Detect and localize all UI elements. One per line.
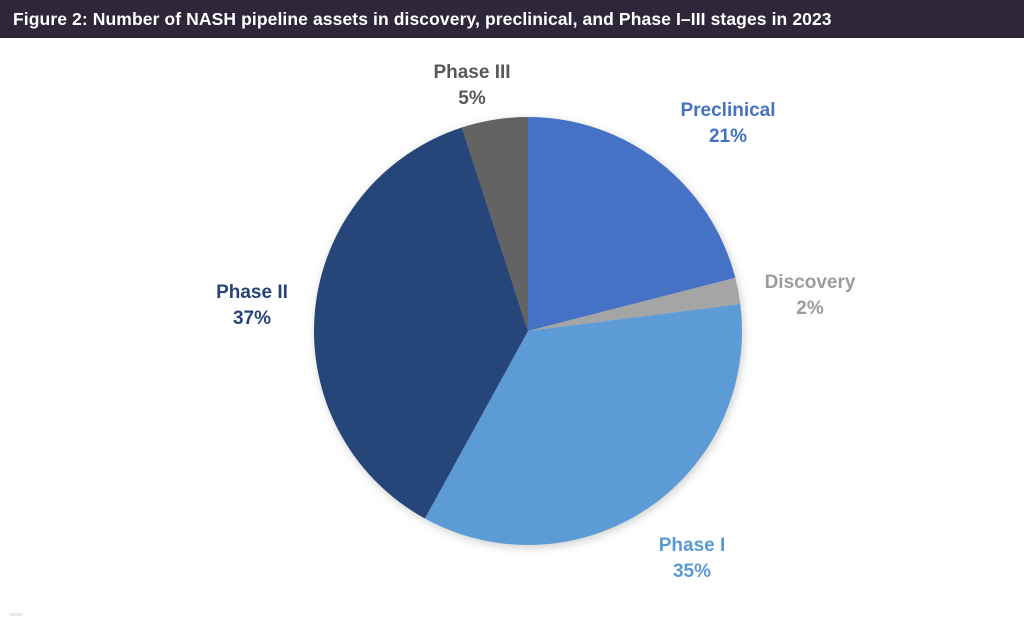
figure-title-bar: Figure 2: Number of NASH pipeline assets… bbox=[0, 0, 1024, 38]
figure-title: Figure 2: Number of NASH pipeline assets… bbox=[13, 0, 832, 38]
pie-label-phase-ii-value: 37% bbox=[162, 306, 342, 332]
pie-label-discovery-value: 2% bbox=[720, 296, 900, 322]
pie-label-phase-iii: Phase III 5% bbox=[382, 60, 562, 111]
pie-label-discovery: Discovery 2% bbox=[720, 270, 900, 321]
pie-slice-group bbox=[314, 117, 742, 545]
pie-label-phase-i-name: Phase I bbox=[602, 533, 782, 559]
pie-label-phase-iii-name: Phase III bbox=[382, 60, 562, 86]
pie-label-discovery-name: Discovery bbox=[720, 270, 900, 296]
pie-label-preclinical-value: 21% bbox=[638, 124, 818, 150]
footer-artifact-mark bbox=[9, 613, 23, 616]
pie-chart-svg bbox=[314, 117, 742, 545]
pie-label-preclinical-name: Preclinical bbox=[638, 98, 818, 124]
pie-label-phase-ii-name: Phase II bbox=[162, 280, 342, 306]
pie-label-phase-i-value: 35% bbox=[602, 559, 782, 585]
pie-label-phase-iii-value: 5% bbox=[382, 86, 562, 112]
pie-label-phase-i: Phase I 35% bbox=[602, 533, 782, 584]
pie-label-preclinical: Preclinical 21% bbox=[638, 98, 818, 149]
pie-chart bbox=[314, 117, 742, 545]
chart-area: Phase III 5% Preclinical 21% Discovery 2… bbox=[0, 38, 1024, 625]
pie-label-phase-ii: Phase II 37% bbox=[162, 280, 342, 331]
